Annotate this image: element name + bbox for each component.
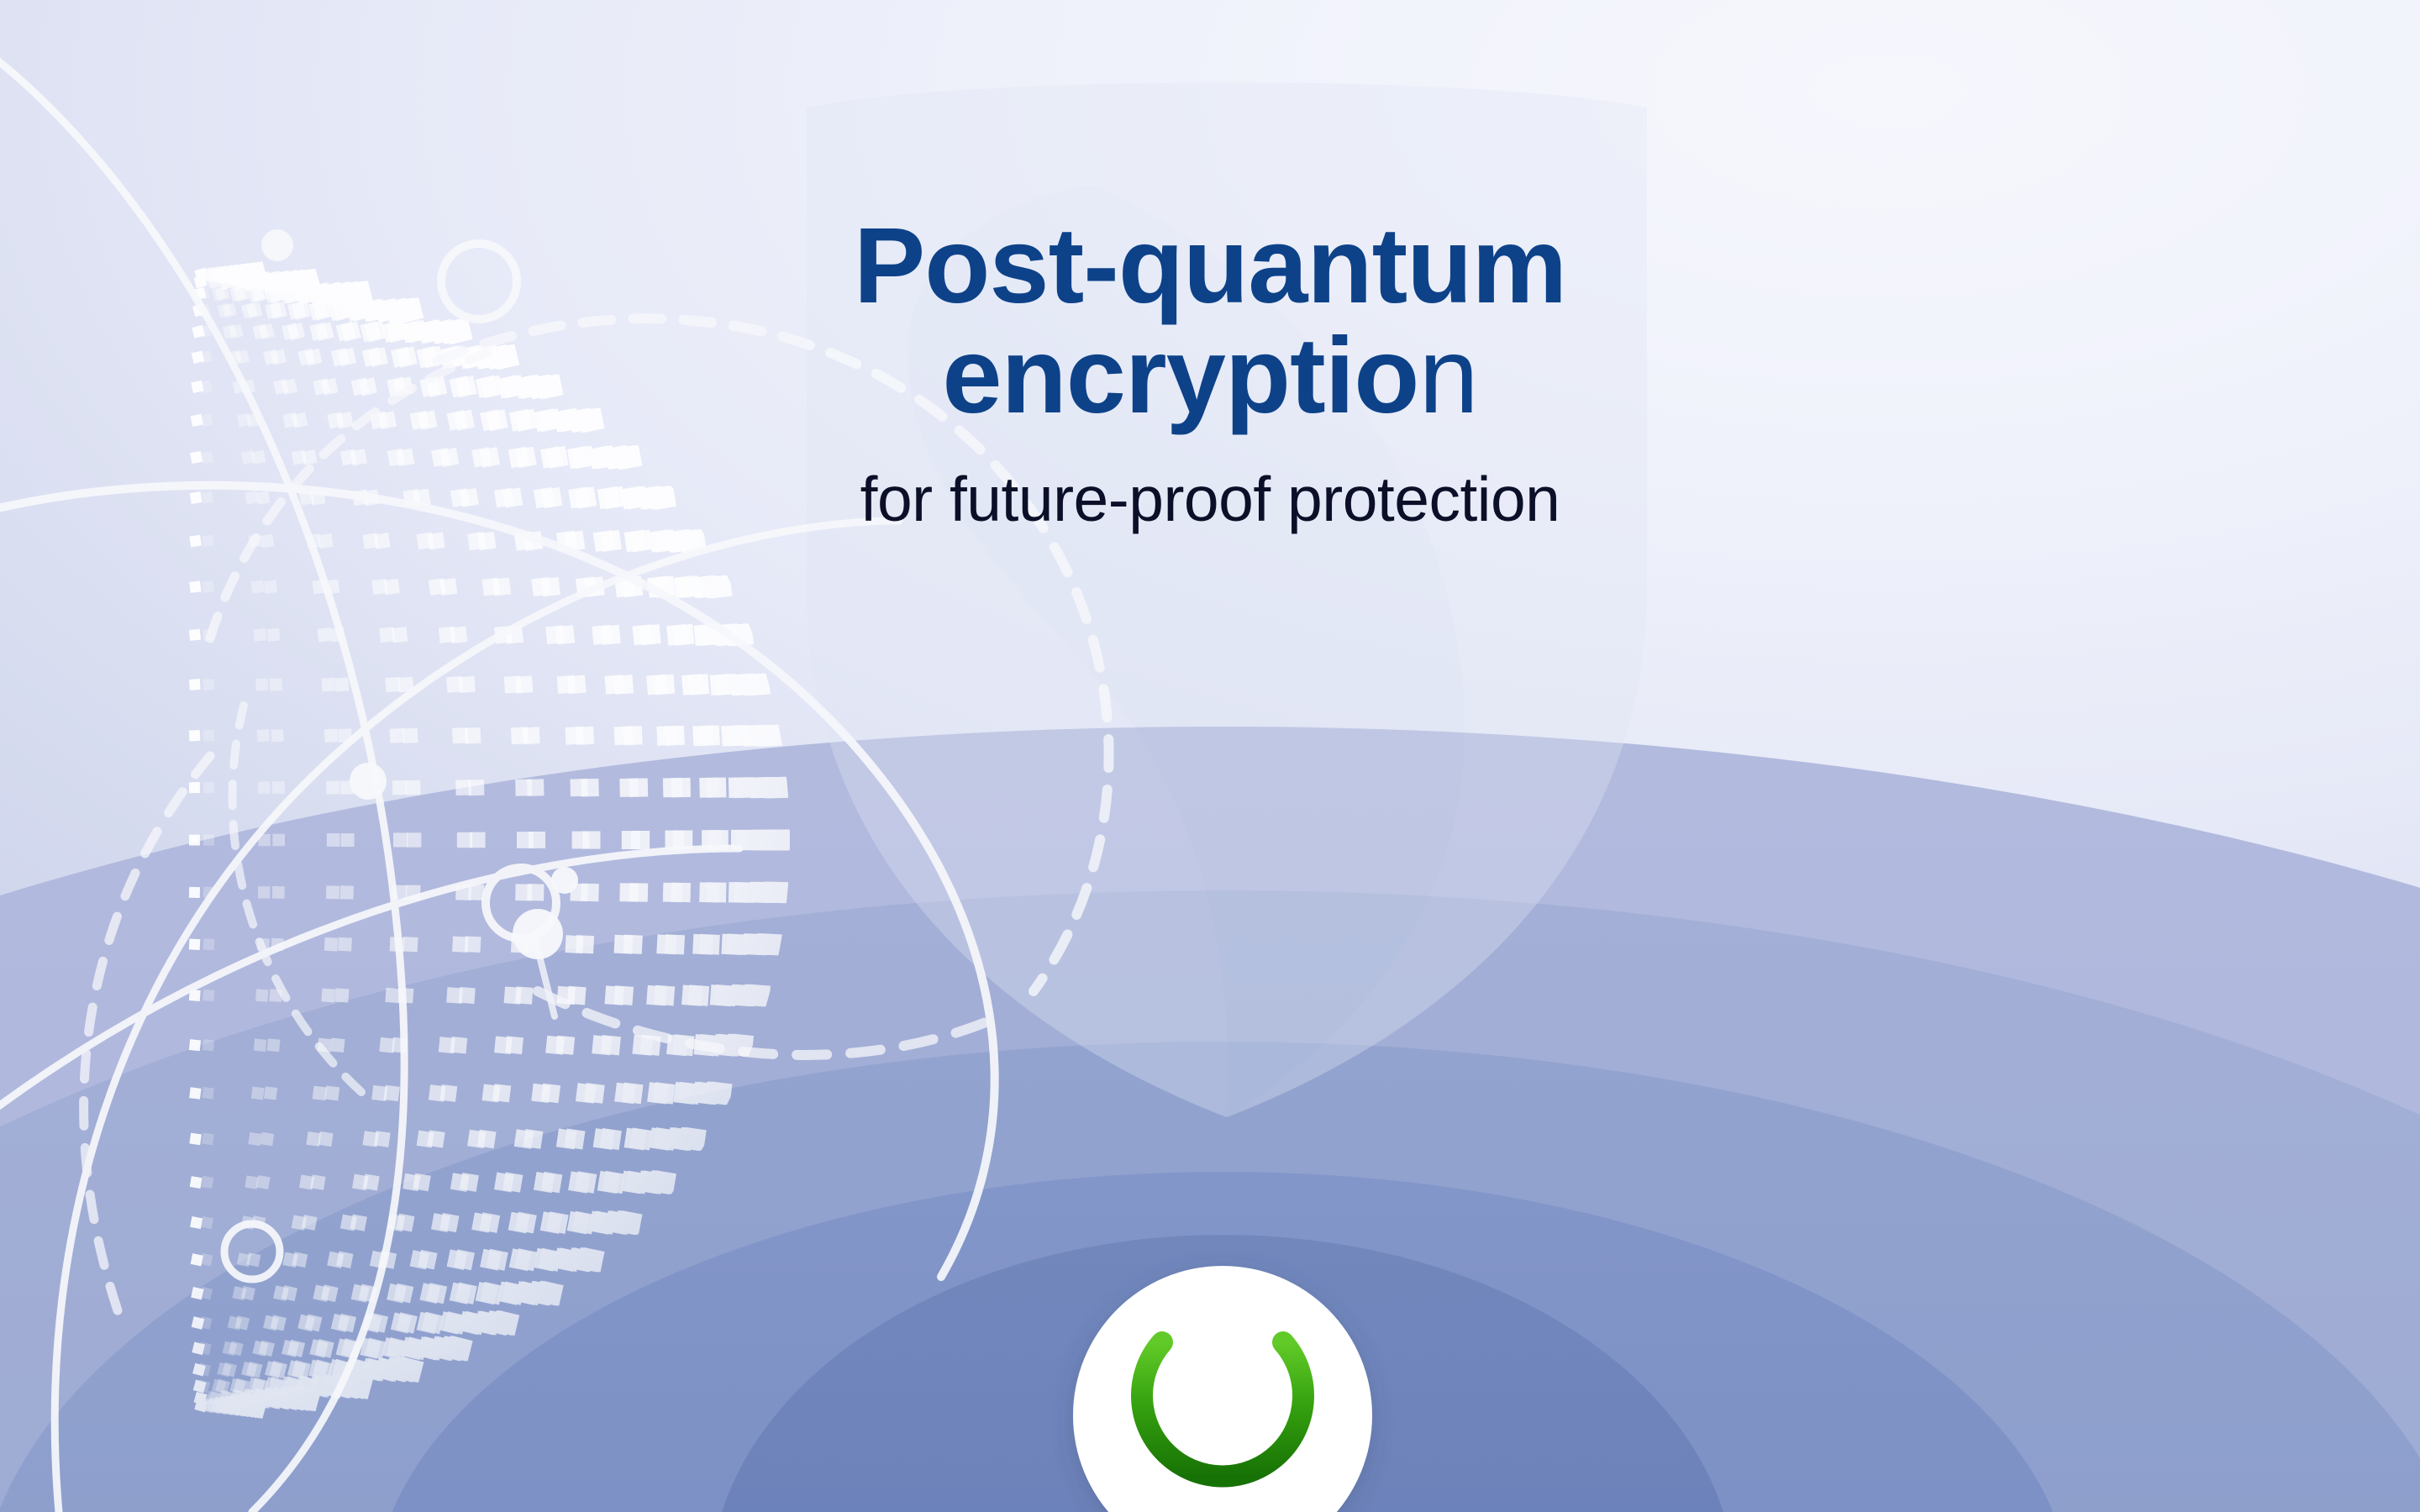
headline-line-1: Post-quantum <box>0 212 2420 322</box>
hero-text-block: Post-quantum encryption for future-proof… <box>0 212 2420 535</box>
page-title: Post-quantum encryption <box>0 212 2420 431</box>
headline-line-2-thin: n <box>1418 316 1477 436</box>
hero-banner: Post-quantum encryption for future-proof… <box>0 0 2420 1512</box>
headline-line-2: encryption <box>0 322 2420 432</box>
headline-line-2-bold: encryptio <box>942 316 1418 436</box>
page-subtitle: for future-proof protection <box>0 463 2420 535</box>
power-button[interactable] <box>1050 1243 1395 1512</box>
